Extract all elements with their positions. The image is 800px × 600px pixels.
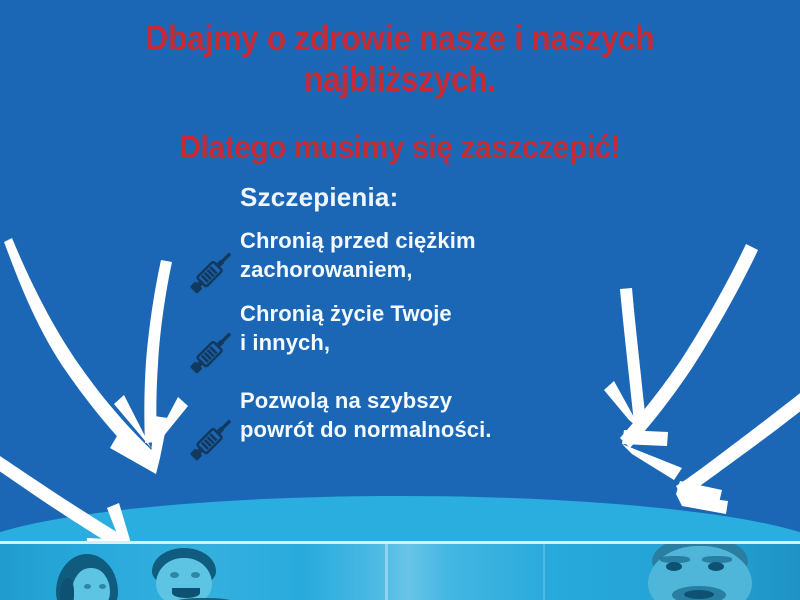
benefit-item-2: Chronią życie Twoje i innych, [240,300,660,357]
photo-seam-1 [385,544,388,600]
content-block: Szczepienia: Chronią przed ciężkim zacho… [240,182,660,445]
photo-seam-2 [543,544,545,600]
vaccination-heading: Szczepienia: [240,182,660,213]
benefits-list: Chronią przed ciężkim zachorowaniem, Chr… [240,227,660,445]
headline-primary: Dbajmy o zdrowie nasze i naszych najbliż… [40,18,760,101]
benefit-item-1: Chronią przed ciężkim zachorowaniem, [240,227,660,284]
syringe-icon-3 [182,410,240,468]
headline-secondary: Dlatego musimy się zaszczepić! [32,129,768,167]
poster-canvas: Dbajmy o zdrowie nasze i naszych najbliż… [0,0,800,600]
benefit-item-3: Pozwolą na szybszy powrót do normalności… [240,387,660,444]
syringe-icon-1 [182,243,240,301]
syringe-icon-2 [182,323,240,381]
people-photo-strip [0,541,800,600]
